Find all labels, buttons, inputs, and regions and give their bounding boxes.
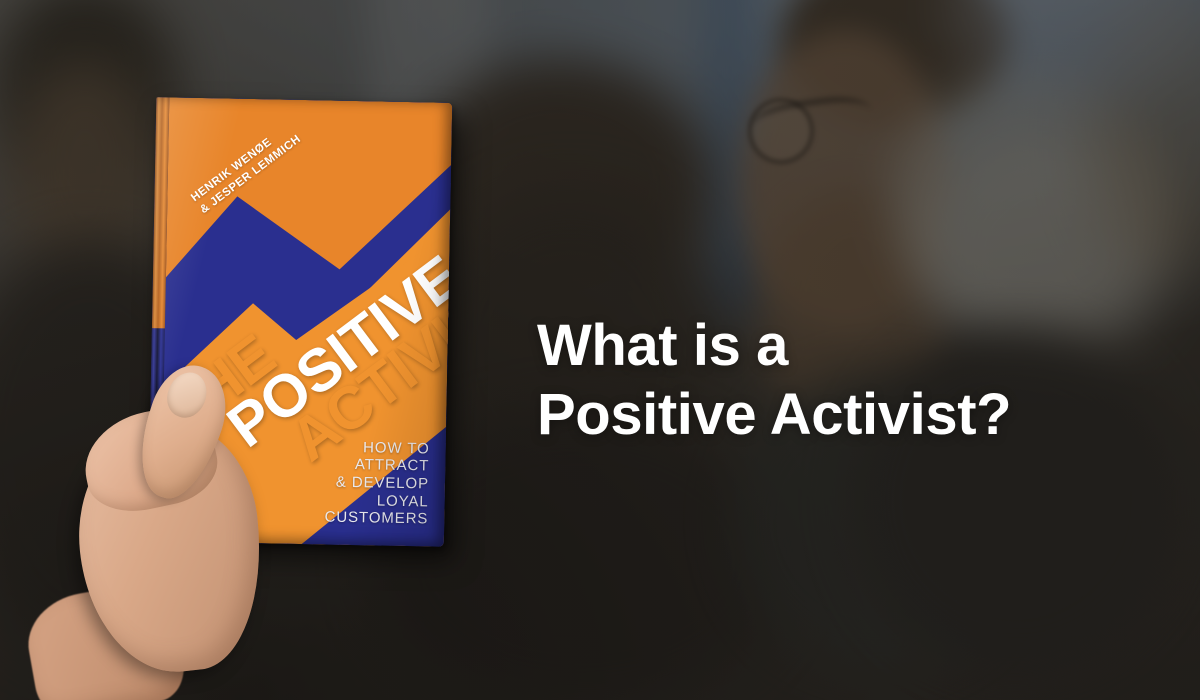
book-subtitle-line-5: CUSTOMERS	[324, 509, 428, 529]
book-subtitle-line-3: & DEVELOP	[325, 473, 429, 493]
book-subtitle-line-2: ATTRACT	[325, 456, 429, 476]
page-title: What is a Positive Activist?	[537, 311, 1011, 449]
book-subtitle-line-4: LOYAL	[325, 491, 429, 511]
book-subtitle-line-1: HOW TO	[326, 438, 430, 458]
hand-holding-book	[40, 360, 340, 700]
hero-banner: HENRIK WENØE & JESPER LEMMICH THE POSITI…	[0, 0, 1200, 700]
book-subtitle: HOW TO ATTRACT & DEVELOP LOYAL CUSTOMERS	[324, 438, 429, 528]
page-title-line-1: What is a	[537, 311, 1011, 380]
page-title-line-2: Positive Activist?	[537, 380, 1011, 449]
